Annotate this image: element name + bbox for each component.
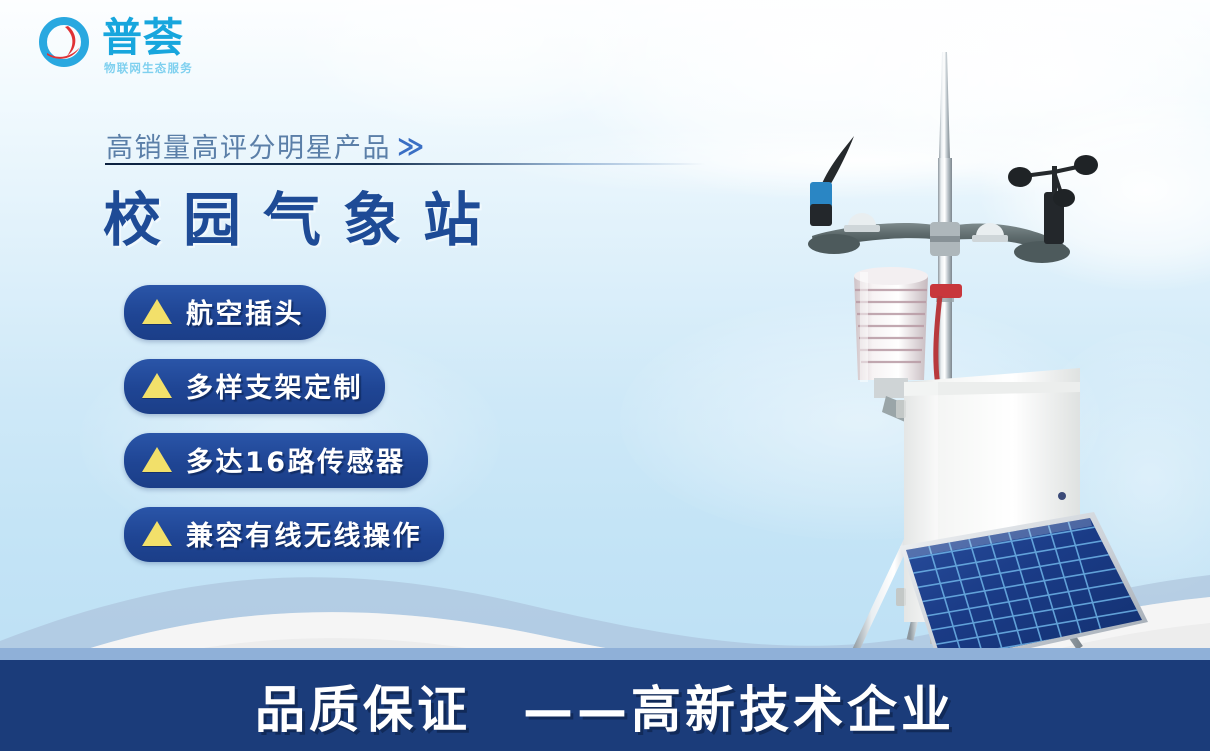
feature-label: 多样支架定制 — [186, 366, 363, 405]
dome-sensor-left — [844, 213, 880, 232]
circle-swoosh-logo-icon — [34, 14, 94, 74]
brand-logo: 普荟 物联网生态服务 — [34, 14, 193, 75]
divider-line — [105, 163, 705, 165]
feature-list: 航空插头 多样支架定制 多达16路传感器 兼容有线无线操作 — [124, 285, 444, 562]
page-title: 校园气象站 — [103, 173, 503, 257]
feature-label: 多达16路传感器 — [186, 440, 406, 479]
cloud-icon — [300, 0, 660, 130]
double-chevron-right-icon: ≫ — [397, 133, 424, 159]
feature-label: 兼容有线无线操作 — [186, 514, 422, 553]
feature-pill: 多达16路传感器 — [124, 433, 428, 488]
footer-bar: 品质保证 ——高新技术企业 — [0, 660, 1210, 751]
footer-left-text: 品质保证 — [255, 670, 471, 742]
wind-vane — [810, 136, 854, 226]
warning-triangle-icon — [142, 373, 172, 398]
weather-station-photo — [790, 40, 1190, 665]
warning-triangle-icon — [142, 299, 172, 324]
warning-triangle-icon — [142, 521, 172, 546]
footer-accent-strip — [0, 648, 1210, 660]
brand-subtitle: 物联网生态服务 — [104, 63, 193, 75]
tagline-text: 高销量高评分明星产品 — [106, 126, 391, 165]
feature-pill: 航空插头 — [124, 285, 326, 340]
feature-label: 航空插头 — [186, 292, 304, 331]
warning-triangle-icon — [142, 447, 172, 472]
footer-right-text: ——高新技术企业 — [523, 670, 955, 742]
tagline-row: 高销量高评分明星产品 ≫ — [106, 126, 424, 165]
feature-pill: 多样支架定制 — [124, 359, 385, 414]
feature-pill: 兼容有线无线操作 — [124, 507, 444, 562]
promo-banner: 普荟 物联网生态服务 高销量高评分明星产品 ≫ 校园气象站 航空插头 多样支架定… — [0, 0, 1210, 751]
brand-name: 普荟 — [102, 18, 193, 58]
